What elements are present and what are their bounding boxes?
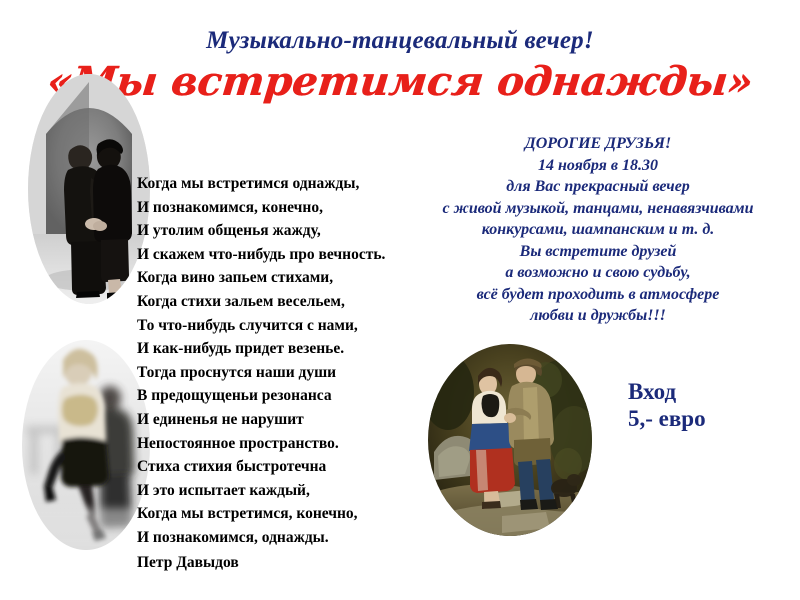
entry-price-block: Вход 5,- евро: [628, 378, 706, 432]
poem-line: Когда мы встретимся, конечно,: [137, 502, 457, 526]
photo-dancer-blurred: [22, 340, 150, 550]
poster-canvas: Музыкально-танцевальный вечер! «Мы встре…: [0, 0, 800, 600]
invitation-line: для Вас прекрасный вечер: [396, 176, 800, 198]
invitation-datetime: 14 ноября в 18.30: [396, 155, 800, 177]
photo-couple-black-and-white: [28, 74, 150, 304]
poem-author: Петр Давыдов: [137, 550, 457, 575]
invitation-line: а возможно и свою судьбу,: [396, 262, 800, 284]
invitation-line: с живой музыкой, танцами, ненавязчивами: [396, 198, 800, 220]
invitation-line: Вы встретите друзей: [396, 241, 800, 263]
poem-line: Тогда проснутся наши души: [137, 361, 457, 385]
invitation-block: ДОРОГИЕ ДРУЗЬЯ! 14 ноября в 18.30 для Ва…: [396, 133, 800, 327]
invitation-heading: ДОРОГИЕ ДРУЗЬЯ!: [396, 133, 800, 155]
photo-oil-painting-couple: [428, 344, 592, 536]
poem-line: Стиха стихия быстротечна: [137, 455, 457, 479]
poem-line: Непостоянное пространство.: [137, 432, 457, 456]
entry-label: Вход: [628, 378, 706, 405]
poem-line: И единенья не нарушит: [137, 408, 457, 432]
poem-line: И познакомимся, однажды.: [137, 526, 457, 550]
invitation-line: всё будет проходить в атмосфере: [396, 284, 800, 306]
entry-price: 5,- евро: [628, 405, 706, 432]
page-title: Музыкально-танцевальный вечер!: [0, 27, 800, 55]
poem-line: В предощущеньи резонанса: [137, 384, 457, 408]
invitation-line: любви и дружбы!!!: [396, 305, 800, 327]
poem-line: И как-нибудь придет везенье.: [137, 337, 457, 361]
poem-line: И это испытает каждый,: [137, 479, 457, 503]
invitation-line: конкурсами, шампанским и т. д.: [396, 219, 800, 241]
